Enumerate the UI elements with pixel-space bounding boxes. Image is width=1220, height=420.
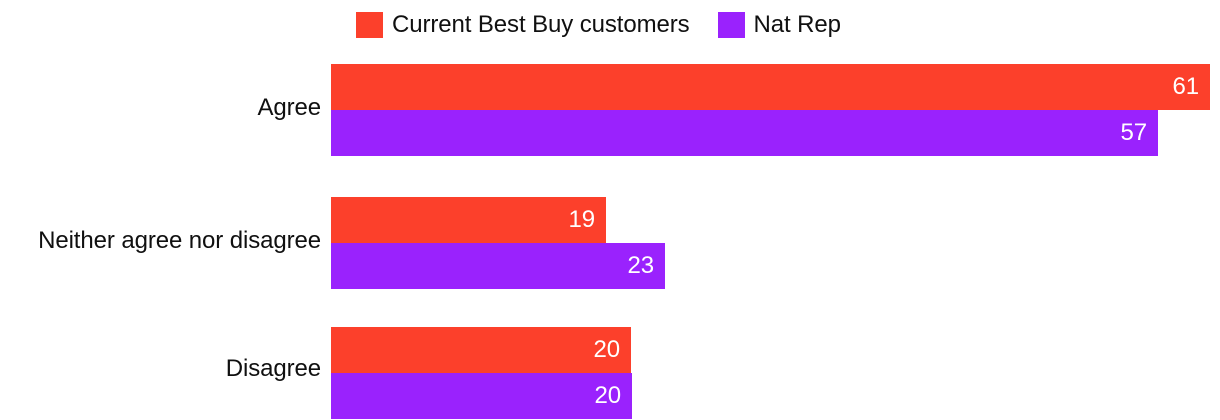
plot-area: Agree 61 57 Neither agree nor disagree 1… — [0, 0, 1220, 420]
bar-agree-current-best-buy-customers[interactable]: 61 — [331, 64, 1210, 110]
category-label-disagree: Disagree — [0, 355, 321, 383]
bar-value-neither-nat-rep: 23 — [628, 252, 655, 280]
bar-value-neither-current-best-buy-customers: 19 — [569, 206, 596, 234]
bar-value-disagree-nat-rep: 20 — [595, 382, 622, 410]
category-label-neither-agree-nor-disagree: Neither agree nor disagree — [0, 227, 321, 255]
bar-value-disagree-current-best-buy-customers: 20 — [594, 336, 621, 364]
bar-group-neither-agree-nor-disagree: Neither agree nor disagree 19 23 — [0, 197, 1220, 288]
bar-agree-nat-rep[interactable]: 57 — [331, 110, 1158, 156]
category-label-agree: Agree — [0, 94, 321, 122]
bar-disagree-nat-rep[interactable]: 20 — [331, 373, 632, 419]
bar-chart: Current Best Buy customers Nat Rep Agree… — [0, 0, 1220, 420]
bar-value-agree-nat-rep: 57 — [1121, 119, 1148, 147]
bar-group-agree: Agree 61 57 — [0, 64, 1220, 155]
bar-group-disagree: Disagree 20 20 — [0, 327, 1220, 418]
bar-neither-current-best-buy-customers[interactable]: 19 — [331, 197, 606, 243]
bar-neither-nat-rep[interactable]: 23 — [331, 243, 665, 289]
bar-value-agree-current-best-buy-customers: 61 — [1173, 73, 1200, 101]
bar-disagree-current-best-buy-customers[interactable]: 20 — [331, 327, 631, 373]
